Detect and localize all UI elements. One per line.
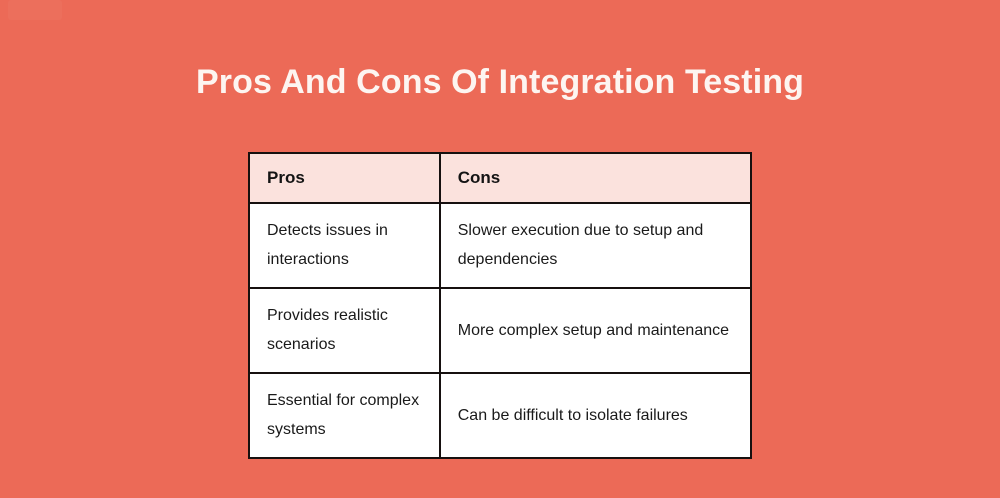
- table-row: Provides realistic scenarios More comple…: [249, 288, 751, 373]
- watermark-ghost: [8, 0, 62, 20]
- table-header-row: Pros Cons: [249, 153, 751, 203]
- table-header: Pros Cons: [249, 153, 751, 203]
- cell-pros: Provides realistic scenarios: [249, 288, 440, 373]
- table-row: Detects issues in interactions Slower ex…: [249, 203, 751, 288]
- cell-cons: More complex setup and maintenance: [440, 288, 751, 373]
- pros-cons-table: Pros Cons Detects issues in interactions…: [248, 152, 752, 459]
- page-title: Pros And Cons Of Integration Testing: [0, 58, 1000, 106]
- cell-pros: Essential for complex systems: [249, 373, 440, 458]
- table-body: Detects issues in interactions Slower ex…: [249, 203, 751, 458]
- cell-cons: Slower execution due to setup and depend…: [440, 203, 751, 288]
- cell-cons: Can be difficult to isolate failures: [440, 373, 751, 458]
- column-header-pros: Pros: [249, 153, 440, 203]
- infographic-canvas: Pros And Cons Of Integration Testing Pro…: [0, 0, 1000, 498]
- column-header-cons: Cons: [440, 153, 751, 203]
- table-row: Essential for complex systems Can be dif…: [249, 373, 751, 458]
- cell-pros: Detects issues in interactions: [249, 203, 440, 288]
- pros-cons-table-container: Pros Cons Detects issues in interactions…: [248, 152, 752, 459]
